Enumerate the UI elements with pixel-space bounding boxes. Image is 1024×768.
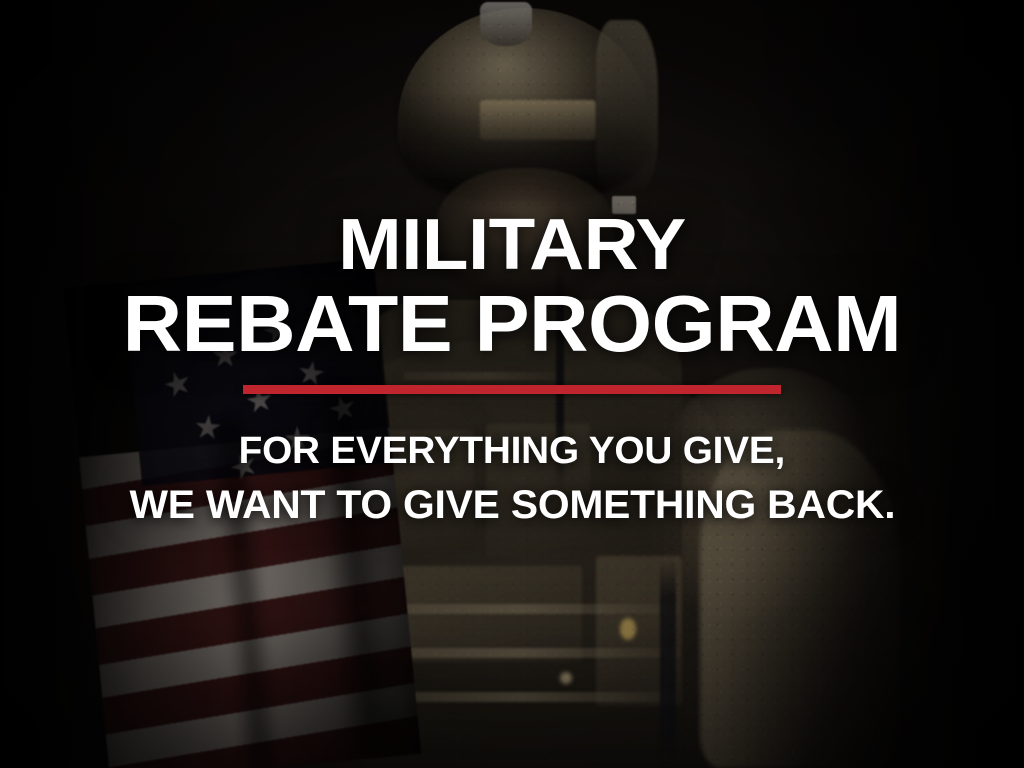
headline-line-2: REBATE PROGRAM <box>123 286 902 361</box>
subheadline-line-2: WE WANT TO GIVE SOMETHING BACK. <box>129 483 895 529</box>
subheadline-line-1: FOR EVERYTHING YOU GIVE, <box>239 430 785 473</box>
military-rebate-banner: MILITARY REBATE PROGRAM FOR EVERYTHING Y… <box>0 0 1024 768</box>
banner-content: MILITARY REBATE PROGRAM FOR EVERYTHING Y… <box>0 0 1024 768</box>
red-divider-rule <box>243 385 781 394</box>
headline-line-1: MILITARY <box>338 212 686 280</box>
